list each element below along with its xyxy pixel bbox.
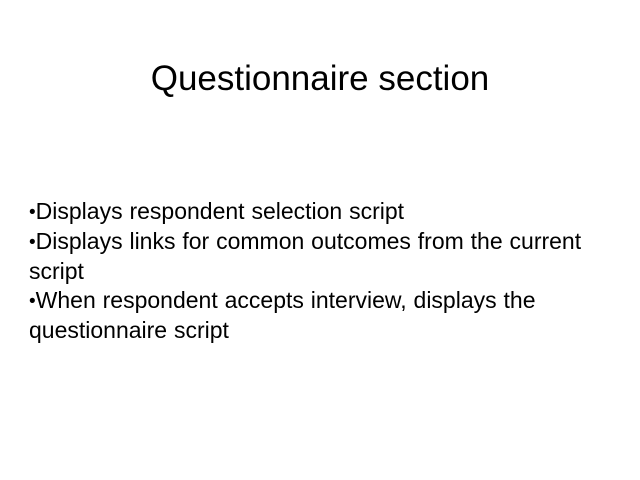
list-item-text: When respondent accepts interview, displ… bbox=[29, 287, 536, 343]
bullet-point-icon: • bbox=[29, 202, 36, 223]
list-item: •Displays links for common outcomes from… bbox=[29, 227, 607, 286]
bullet-list: •Displays respondent selection script •D… bbox=[29, 197, 607, 345]
list-item-text: Displays respondent selection script bbox=[36, 198, 404, 224]
list-item: •Displays respondent selection script bbox=[29, 197, 607, 227]
bullet-point-icon: • bbox=[29, 291, 36, 312]
bullet-point-icon: • bbox=[29, 232, 36, 253]
presentation-slide: Questionnaire section •Displays responde… bbox=[0, 0, 640, 480]
list-item-text: Displays links for common outcomes from … bbox=[29, 228, 581, 284]
slide-title: Questionnaire section bbox=[0, 59, 640, 99]
list-item: •When respondent accepts interview, disp… bbox=[29, 286, 607, 345]
